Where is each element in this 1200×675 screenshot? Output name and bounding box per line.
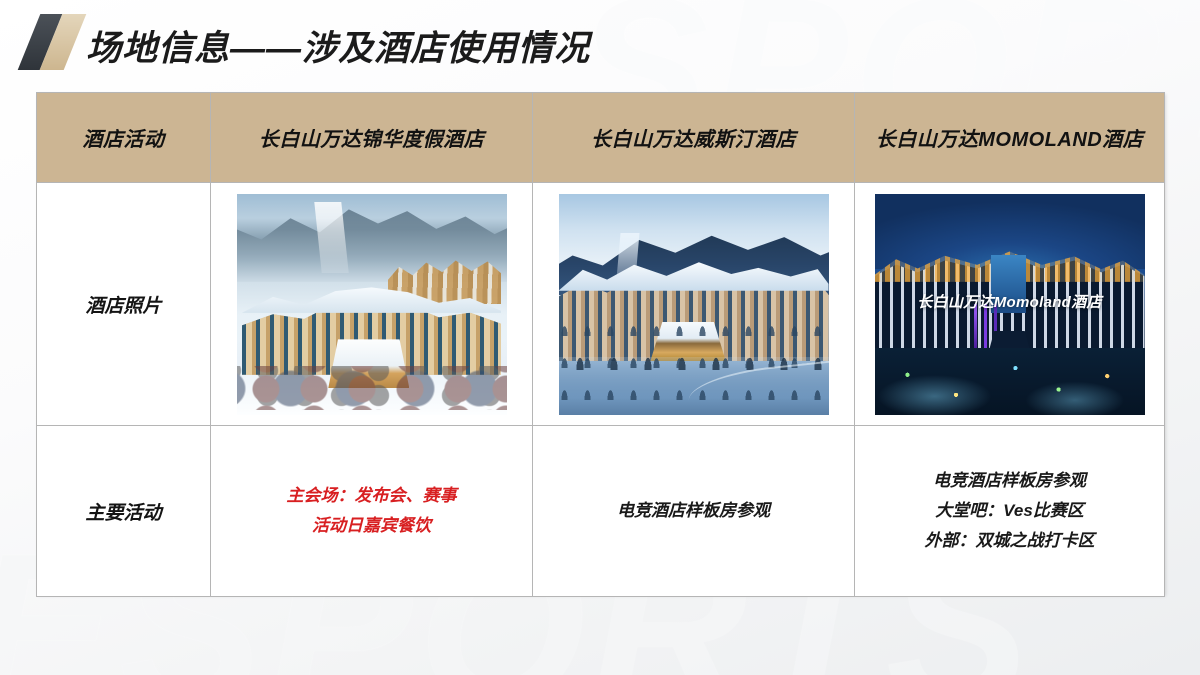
hotel-photo-westin [559, 194, 829, 415]
header-cell-hotel-momoland: 长白山万达MOMOLAND酒店 [855, 93, 1165, 183]
header-cell-activity: 酒店活动 [37, 93, 211, 183]
activity-line: 主会场：发布会、赛事 [211, 481, 532, 511]
photo-caption-overlay: 长白山万达Momoland酒店 [875, 291, 1145, 312]
header-cell-hotel-westin: 长白山万达威斯汀酒店 [533, 93, 855, 183]
photo-cell-jinhua [211, 183, 533, 426]
activity-line: 电竞酒店样板房参观 [855, 466, 1164, 496]
row-label-activities: 主要活动 [37, 426, 211, 597]
table-row-photos: 酒店照片 [37, 183, 1165, 426]
activity-line: 电竞酒店样板房参观 [533, 496, 854, 526]
photo-cell-momoland: 长白山万达Momoland酒店 [855, 183, 1165, 426]
header-cell-hotel-jinhua: 长白山万达锦华度假酒店 [211, 93, 533, 183]
slide-canvas: ESPORTS SPORTS ESPORTS 场地信息——涉及酒店使用情况 酒店… [0, 0, 1200, 675]
table-header-row: 酒店活动 长白山万达锦华度假酒店 长白山万达威斯汀酒店 长白山万达MOMOLAN… [37, 93, 1165, 183]
activity-line: 外部：双城之战打卡区 [855, 526, 1164, 556]
activities-cell-jinhua: 主会场：发布会、赛事 活动日嘉宾餐饮 [211, 426, 533, 597]
table-row-activities: 主要活动 主会场：发布会、赛事 活动日嘉宾餐饮 电竞酒店样板房参观 电竞酒店样板… [37, 426, 1165, 597]
photo-cell-westin [533, 183, 855, 426]
activities-cell-momoland: 电竞酒店样板房参观 大堂吧：Ves比赛区 外部：双城之战打卡区 [855, 426, 1165, 597]
activity-line: 活动日嘉宾餐饮 [211, 511, 532, 541]
activities-cell-westin: 电竞酒店样板房参观 [533, 426, 855, 597]
activity-line: 大堂吧：Ves比赛区 [855, 496, 1164, 526]
photo-skier-dots [237, 366, 507, 410]
photo-garden-shape [875, 348, 1145, 414]
hotel-photo-jinhua [237, 194, 507, 415]
row-label-photos: 酒店照片 [37, 183, 211, 426]
hotel-photo-momoland: 长白山万达Momoland酒店 [875, 194, 1145, 415]
hotel-table: 酒店活动 长白山万达锦华度假酒店 长白山万达威斯汀酒店 长白山万达MOMOLAN… [36, 92, 1164, 594]
page-title: 场地信息——涉及酒店使用情况 [86, 20, 590, 71]
logo-mark [25, 14, 85, 70]
